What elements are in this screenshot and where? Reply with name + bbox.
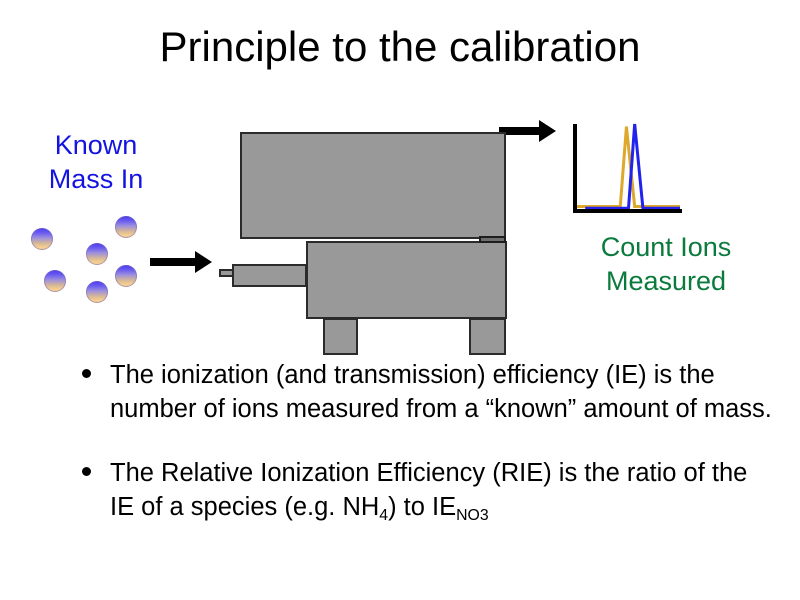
- particle-cloud: [0, 0, 170, 330]
- outlet-arrow-head: [539, 120, 556, 142]
- particle-5: [115, 265, 137, 287]
- lower-chamber: [306, 241, 507, 319]
- count-ions-measured-label: Count Ions Measured: [542, 230, 790, 298]
- inlet-arrow-head: [195, 251, 212, 273]
- mass-spectrum-chart: [566, 118, 690, 222]
- bullet-list: The ionization (and transmission) effici…: [76, 358, 776, 528]
- inlet-arrow-shaft: [150, 258, 195, 266]
- bullet-relative-ionization-efficiency-text: The Relative Ionization Efficiency (RIE)…: [110, 459, 747, 521]
- count-ions-line-1: Count Ions: [601, 232, 732, 262]
- chamber-connector: [479, 236, 506, 243]
- inlet-tube: [232, 264, 307, 287]
- inlet-nozzle: [219, 269, 234, 277]
- bullet-marker-icon: [82, 369, 91, 378]
- particle-2: [115, 216, 137, 238]
- leg-left: [323, 318, 358, 355]
- particle-6: [86, 281, 108, 303]
- bullet-marker-icon: [82, 467, 91, 476]
- particle-3: [86, 243, 108, 265]
- mass-spectrum-svg: [566, 118, 690, 222]
- count-ions-line-2: Measured: [542, 264, 790, 298]
- bullet-ionization-efficiency: The ionization (and transmission) effici…: [76, 358, 776, 426]
- particle-1: [31, 228, 53, 250]
- leg-right: [469, 318, 506, 355]
- bullet-relative-ionization-efficiency: The Relative Ionization Efficiency (RIE)…: [76, 456, 776, 528]
- bullet-ionization-efficiency-text: The ionization (and transmission) effici…: [110, 361, 772, 423]
- spectrum-traces: [577, 124, 680, 208]
- upper-chamber: [240, 132, 506, 239]
- particle-4: [44, 270, 66, 292]
